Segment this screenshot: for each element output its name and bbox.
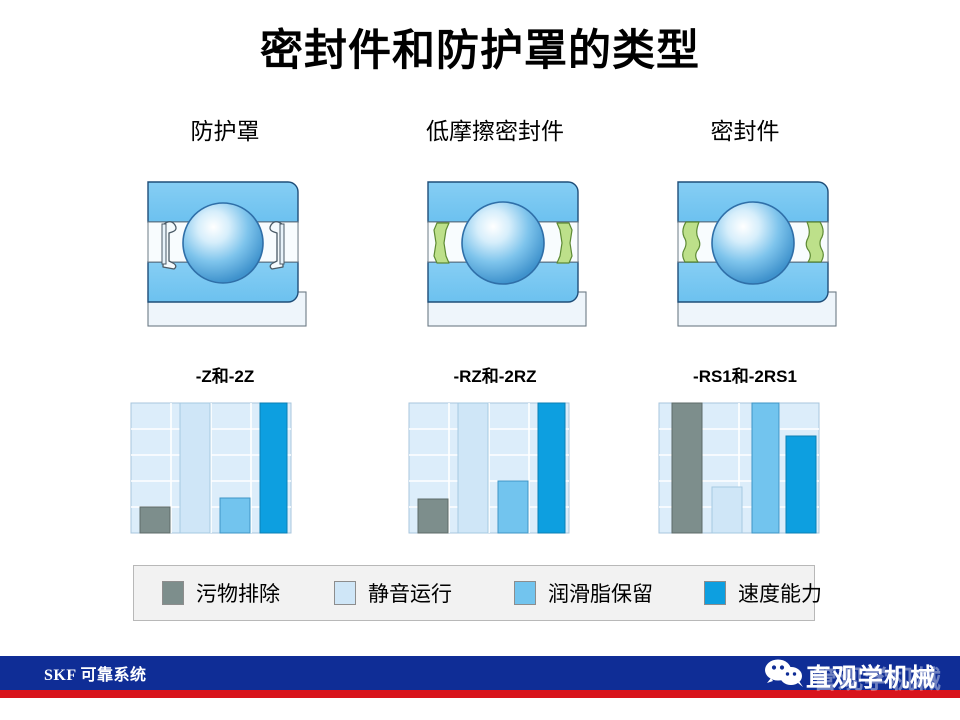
bar-speed-capability	[260, 403, 287, 533]
bar-dirt-exclusion	[418, 499, 448, 533]
bar-grease-retention	[752, 403, 779, 533]
column-header-low-friction-seal: 低摩擦密封件	[400, 112, 590, 146]
bearing-diagram-shield	[130, 160, 320, 330]
legend-swatch-speed-capability	[704, 581, 726, 605]
bar-speed-capability	[786, 436, 816, 533]
bar-chart-low-friction-seal	[408, 402, 570, 534]
bar-dirt-exclusion	[672, 403, 702, 533]
legend-item-quiet-running: 静音运行	[334, 578, 514, 608]
wechat-icon	[762, 658, 808, 688]
footer-brand-text: 直观学机械	[806, 658, 936, 694]
legend-swatch-quiet-running	[334, 581, 356, 605]
legend-label-dirt-exclusion: 污物排除	[196, 578, 280, 608]
bar-speed-capability	[538, 403, 565, 533]
chart-legend: 污物排除 静音运行 润滑脂保留 速度能力	[133, 565, 815, 621]
slide-canvas: 密封件和防护罩的类型 防护罩	[0, 0, 960, 720]
bearing-diagram-seal	[660, 160, 850, 330]
designation-low-friction-seal: -RZ和-2RZ	[400, 362, 590, 387]
bar-chart-seal	[658, 402, 820, 534]
legend-swatch-grease-retention	[514, 581, 536, 605]
legend-swatch-dirt-exclusion	[162, 581, 184, 605]
slide-footer: SKF 可靠系统 管观学机械 直观学机械	[0, 648, 960, 720]
legend-item-grease-retention: 润滑脂保留	[514, 578, 704, 608]
designation-seal: -RS1和-2RS1	[650, 362, 840, 387]
bearing-diagram-low-friction-seal	[410, 160, 600, 330]
legend-item-dirt-exclusion: 污物排除	[134, 578, 334, 608]
column-header-shield: 防护罩	[135, 112, 315, 146]
footer-skf-text: SKF 可靠系统	[44, 661, 147, 685]
bar-grease-retention	[220, 498, 250, 533]
legend-label-grease-retention: 润滑脂保留	[548, 578, 653, 608]
page-title: 密封件和防护罩的类型	[0, 28, 960, 75]
bar-grease-retention	[498, 481, 528, 533]
legend-item-speed-capability: 速度能力	[704, 578, 822, 608]
bar-chart-shield	[130, 402, 292, 534]
bar-dirt-exclusion	[140, 507, 170, 533]
designation-shield: -Z和-2Z	[135, 362, 315, 387]
legend-label-quiet-running: 静音运行	[368, 578, 452, 608]
legend-label-speed-capability: 速度能力	[738, 578, 822, 608]
bar-quiet-running	[180, 403, 210, 533]
bar-quiet-running	[712, 487, 742, 533]
bar-quiet-running	[458, 403, 488, 533]
column-header-seal: 密封件	[650, 112, 840, 146]
